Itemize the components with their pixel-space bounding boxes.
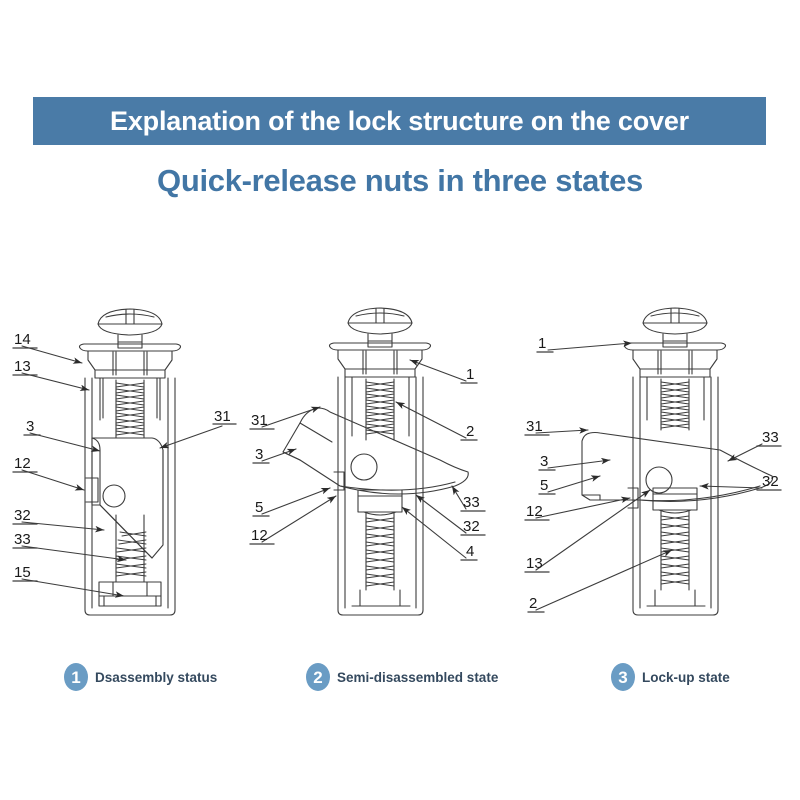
figure-2-label-33: 33	[463, 494, 480, 511]
figure-2-label-32: 32	[463, 518, 480, 535]
figure-3-label-12: 12	[526, 503, 543, 520]
figure-1-label-31: 31	[214, 408, 231, 425]
page-title: Explanation of the lock structure on the…	[110, 106, 689, 137]
figure-2-label-12: 12	[251, 527, 268, 544]
caption-label-1: Dsassembly status	[95, 670, 217, 685]
figure-3-label-33: 33	[762, 429, 779, 446]
figure-3-label-1: 1	[538, 335, 546, 352]
figure-1-label-12: 12	[14, 455, 31, 472]
figure-1-label-15: 15	[14, 564, 31, 581]
figure-3-label-3: 3	[540, 453, 548, 470]
technical-drawings: 14 13 3 12 32 33 15 31	[0, 290, 800, 670]
badge-2: 2	[306, 663, 330, 691]
figure-2-label-3: 3	[255, 446, 263, 463]
figure-1-label-32: 32	[14, 507, 31, 524]
badge-1: 1	[64, 663, 88, 691]
figure-2-label-4: 4	[466, 543, 474, 560]
caption-label-2: Semi-disassembled state	[337, 670, 498, 685]
figure-3-label-13: 13	[526, 555, 543, 572]
title-banner: Explanation of the lock structure on the…	[33, 97, 766, 145]
caption-row: 1 Dsassembly status 2 Semi-disassembled …	[0, 662, 800, 696]
figure-1-label-14: 14	[14, 331, 31, 348]
figure-2-label-2: 2	[466, 423, 474, 440]
figure-1-label-13: 13	[14, 358, 31, 375]
figure-1-label-3: 3	[26, 418, 34, 435]
figure-2-label-31: 31	[251, 412, 268, 429]
badge-3: 3	[611, 663, 635, 691]
caption-label-3: Lock-up state	[642, 670, 730, 685]
figure-3-label-5: 5	[540, 477, 548, 494]
caption-item-3: 3 Lock-up state	[611, 662, 730, 692]
figure-3-label-31: 31	[526, 418, 543, 435]
figure-3-drawing	[582, 308, 773, 615]
caption-item-1: 1 Dsassembly status	[64, 662, 217, 692]
figure-1-label-33: 33	[14, 531, 31, 548]
page-subtitle: Quick-release nuts in three states	[0, 163, 800, 199]
caption-item-2: 2 Semi-disassembled state	[306, 662, 498, 692]
figure-3-label-32: 32	[762, 473, 779, 490]
page-root: Explanation of the lock structure on the…	[0, 0, 800, 800]
figure-2-label-1: 1	[466, 366, 474, 383]
figure-1-drawing	[80, 309, 181, 615]
figure-3-label-2: 2	[529, 595, 537, 612]
drawings-svg: 14 13 3 12 32 33 15 31	[0, 290, 800, 670]
figure-3-callouts	[525, 343, 781, 612]
figure-2-drawing	[283, 308, 468, 615]
figure-2-label-5: 5	[255, 499, 263, 516]
